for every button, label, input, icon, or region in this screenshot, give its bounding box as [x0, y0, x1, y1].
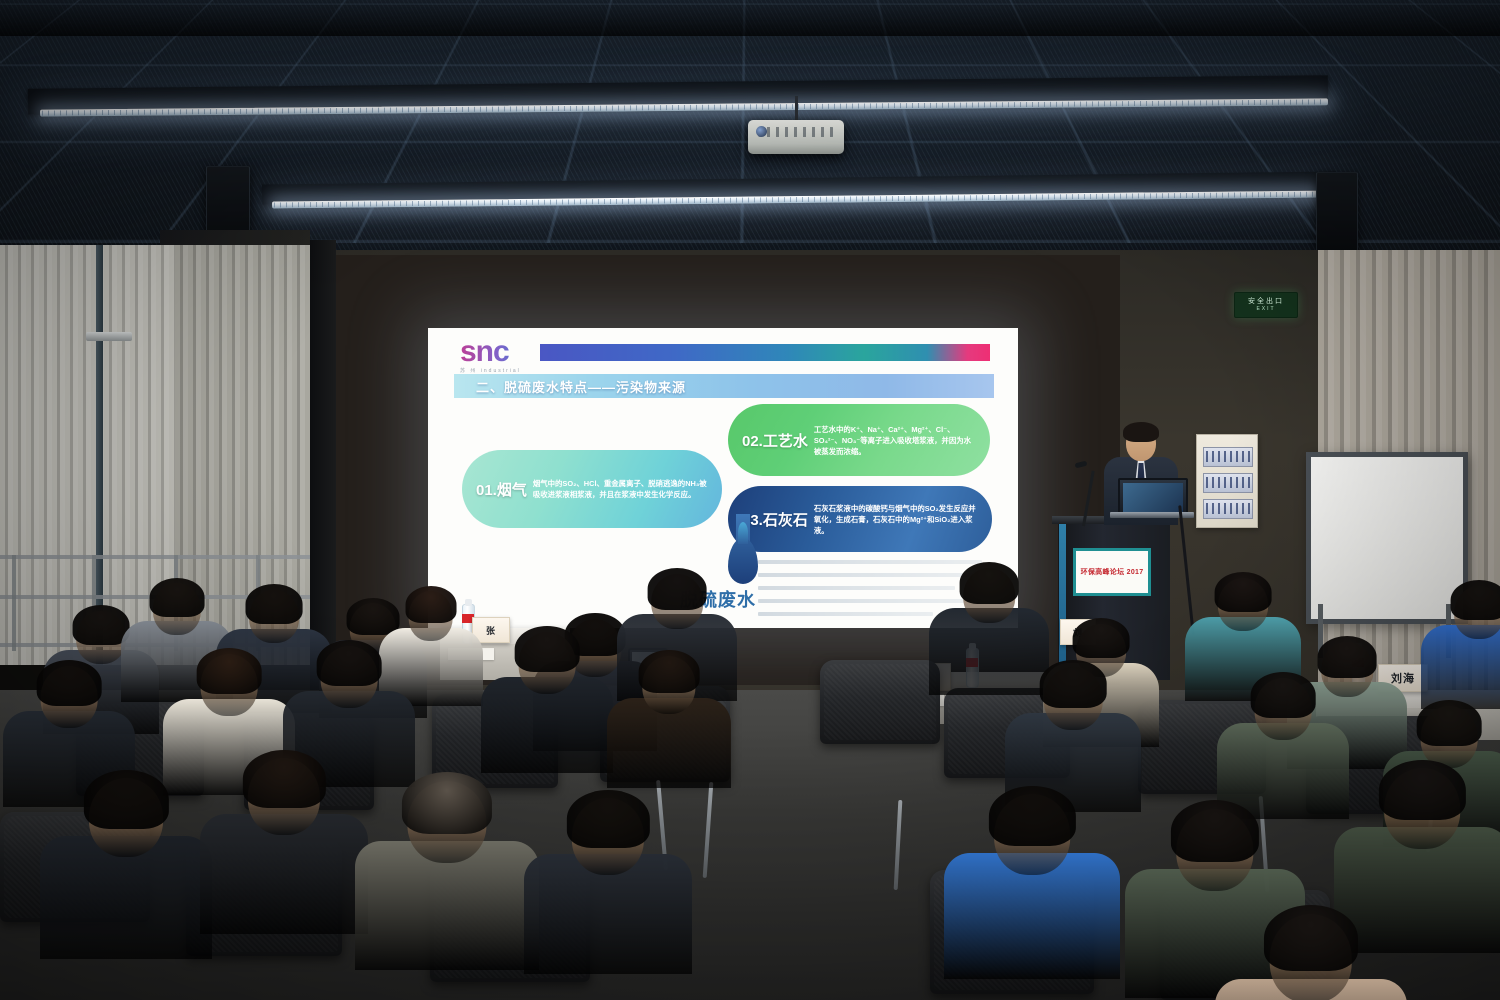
wall-electrical-panel	[1196, 434, 1258, 528]
slide-bubble-03: 03.石灰石 石灰石浆液中的碳酸钙与烟气中的SO₂发生反应并氧化，生成石膏，石灰…	[728, 486, 992, 552]
exit-sign: 安全出口 EXIT	[1234, 292, 1298, 318]
attendee-hair	[243, 750, 325, 808]
attendee-hair	[989, 786, 1075, 846]
attendee-hair	[1379, 760, 1465, 820]
chair[interactable]	[820, 660, 940, 744]
slide-logo-subtitle: 苏 州 industrial	[460, 367, 530, 374]
slide-logo: snc 苏 州 industrial	[460, 338, 530, 374]
attendee-hair	[402, 772, 492, 834]
window-handle[interactable]	[86, 332, 132, 341]
podium-banner: 环保高峰论坛 2017	[1073, 548, 1151, 596]
attendee-row3-h	[1210, 905, 1412, 1000]
attendee-hair	[317, 640, 382, 686]
slide-bubble-02-label: 02.工艺水	[742, 430, 808, 451]
slide-bubble-01-label: 01.烟气	[476, 479, 527, 500]
exit-sign-chinese: 安全出口	[1248, 298, 1284, 306]
attendee-hair	[1170, 800, 1258, 862]
attendee-hair	[1450, 580, 1500, 620]
attendee-row2-d	[478, 626, 617, 780]
attendee-hair	[1072, 618, 1129, 658]
podium-banner-text: 环保高峰论坛 2017	[1081, 567, 1144, 577]
attendee-hair	[37, 660, 102, 706]
attendee-hair	[1417, 700, 1482, 746]
attendee-row2-e	[604, 650, 734, 794]
attendee-hair	[1251, 672, 1316, 718]
breaker-row-3	[1203, 499, 1253, 519]
attendee-hair	[639, 650, 700, 693]
attendee-hair	[149, 578, 204, 617]
attendee-hair	[197, 648, 262, 694]
attendee-hair	[960, 562, 1019, 604]
attendee-hair	[245, 584, 302, 624]
ceiling-shadow-band	[0, 0, 1500, 36]
projector-lens-icon	[756, 126, 767, 137]
ceiling-speaker-right	[1316, 172, 1358, 254]
slide-bubble-02-text: 工艺水中的K⁺、Na⁺、Ca²⁺、Mg²⁺、Cl⁻、SO₄²⁻、NO₃⁻等离子进…	[814, 424, 990, 457]
slide-title-bar: 二、脱硫废水特点——污染物来源	[454, 374, 994, 398]
slide-bubble-01: 01.烟气 烟气中的SO₂、HCl、重金属离子、脱硝逃逸的NH₃被吸收进浆液相浆…	[462, 450, 722, 528]
attendee-row3-d	[520, 790, 696, 982]
attendee-row3-e	[940, 786, 1125, 988]
slide-bubble-02: 02.工艺水 工艺水中的K⁺、Na⁺、Ca²⁺、Mg²⁺、Cl⁻、SO₄²⁻、N…	[728, 404, 990, 476]
breaker-row-2	[1203, 473, 1253, 493]
attendee-hair	[84, 770, 168, 829]
slide-logo-mark: snc	[460, 338, 530, 366]
attendee-hair	[1264, 905, 1358, 971]
slide-bubble-03-text: 石灰石浆液中的碳酸钙与烟气中的SO₂发生反应并氧化，生成石膏，石灰石中的Mg²⁺…	[814, 503, 992, 536]
projector-mount	[795, 96, 798, 120]
slide-bubble-03-label: 03.石灰石	[742, 509, 808, 530]
attendee-hair	[648, 568, 707, 610]
attendee-hair	[405, 586, 456, 623]
attendee-hair	[1040, 660, 1107, 708]
attendee-row1-l	[1418, 580, 1500, 714]
slide-header-gradient-bar	[540, 344, 990, 361]
slide-bubble-01-text: 烟气中的SO₂、HCl、重金属离子、脱硝逃逸的NH₃被吸收进浆液相浆液，并且在浆…	[533, 478, 722, 500]
attendee-hair	[515, 626, 580, 672]
presenter-hair	[1123, 422, 1159, 442]
attendee-row3-a	[36, 770, 217, 967]
attendee-hair	[567, 790, 649, 848]
slide-title: 二、脱硫废水特点——污染物来源	[476, 377, 686, 396]
attendee-row3-c	[350, 772, 543, 978]
exit-sign-english: EXIT	[1256, 306, 1275, 312]
conference-room-photo: 安全出口 EXIT snc 苏 州 industrial 二、脱硫废水特点——污…	[0, 0, 1500, 1000]
attendee-hair	[1214, 572, 1271, 612]
breaker-row-1	[1203, 447, 1253, 467]
attendee-row3-b	[196, 750, 372, 942]
